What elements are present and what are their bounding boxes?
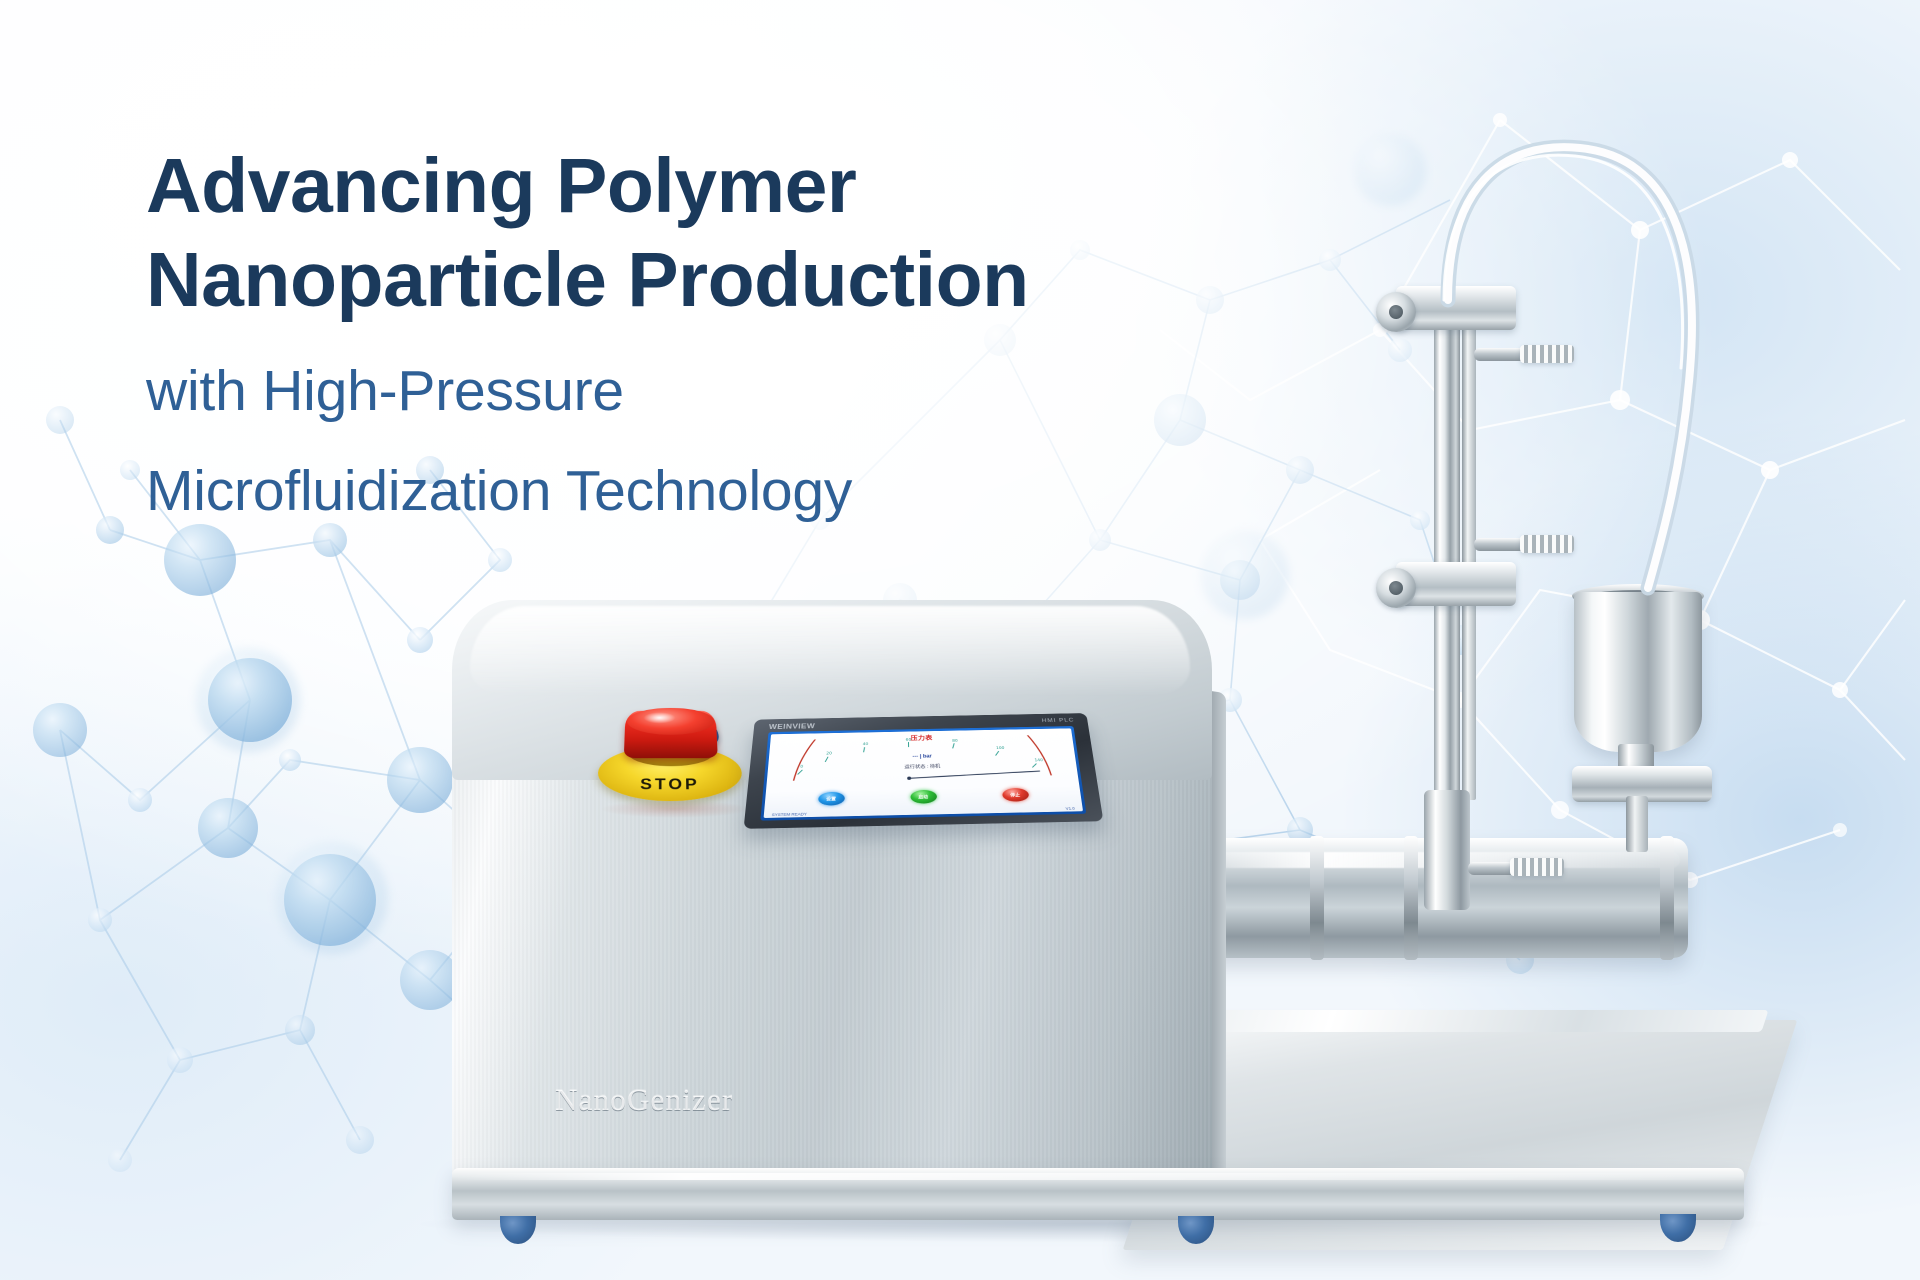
estop-highlight	[644, 712, 676, 723]
estop-label: STOP	[597, 776, 743, 793]
svg-text:20: 20	[826, 751, 832, 755]
hmi-settings-button[interactable]: 设置	[817, 792, 844, 806]
column-clamp-knob-upper[interactable]	[1376, 292, 1416, 332]
svg-text:60: 60	[906, 737, 912, 741]
cabinet-top-highlight	[470, 606, 1190, 696]
svg-text:40: 40	[863, 742, 869, 746]
hmi-corner-status: HMI PLC	[1041, 718, 1074, 724]
hmi-screen[interactable]: 压力表 0	[764, 728, 1083, 818]
column-side-port-upper	[1474, 348, 1526, 361]
machine-base-plate-edge	[1141, 1010, 1768, 1032]
column-side-port-lower	[1474, 538, 1526, 551]
cylinder-ring-1	[1310, 836, 1324, 960]
cylinder-ring-2	[1404, 836, 1418, 960]
svg-text:100: 100	[996, 745, 1005, 749]
hmi-screen-frame: 压力表 0	[760, 726, 1086, 821]
hmi-start-button[interactable]: 启动	[910, 790, 937, 804]
intensifier-column-rod-secondary	[1462, 300, 1476, 800]
cabinet-base-bar	[452, 1168, 1744, 1220]
cylinder-ring-3	[1660, 836, 1674, 960]
hmi-status-right: V1.0	[1065, 806, 1075, 810]
column-clamp-knob-lower[interactable]	[1376, 568, 1416, 608]
column-side-port-bottom	[1468, 862, 1516, 875]
intensifier-column-rod	[1434, 300, 1460, 800]
hmi-touchscreen-bezel: WEINVIEW HMI PLC 压力表	[744, 713, 1104, 829]
hose-barb-lower	[1520, 535, 1574, 553]
sample-cup-stem	[1626, 796, 1648, 852]
intensifier-lower-block	[1424, 790, 1470, 910]
hmi-brand-label: WEINVIEW	[769, 722, 816, 730]
estop-assembly: STOP	[586, 712, 746, 808]
poster-canvas: Advancing Polymer Nanoparticle Productio…	[0, 0, 1920, 1280]
hose-barb-bottom	[1510, 858, 1564, 876]
hmi-stop-button[interactable]: 停止	[1001, 788, 1029, 802]
hmi-button-row: 设置 启动 停止	[765, 787, 1082, 807]
svg-text:80: 80	[952, 738, 958, 742]
rubber-foot-left	[500, 1216, 536, 1244]
hose-barb-upper	[1520, 345, 1574, 363]
hmi-status-left: SYSTEM READY	[772, 812, 807, 817]
sample-cup	[1574, 592, 1702, 752]
hmi-status-bar: SYSTEM READY V1.0	[764, 806, 1083, 817]
brand-engraving: NanoGenizer	[555, 1082, 733, 1118]
nanogenizer-machine: NanoGenizer STOP WEINVIEW HMI PLC 压力表	[0, 0, 1920, 1280]
